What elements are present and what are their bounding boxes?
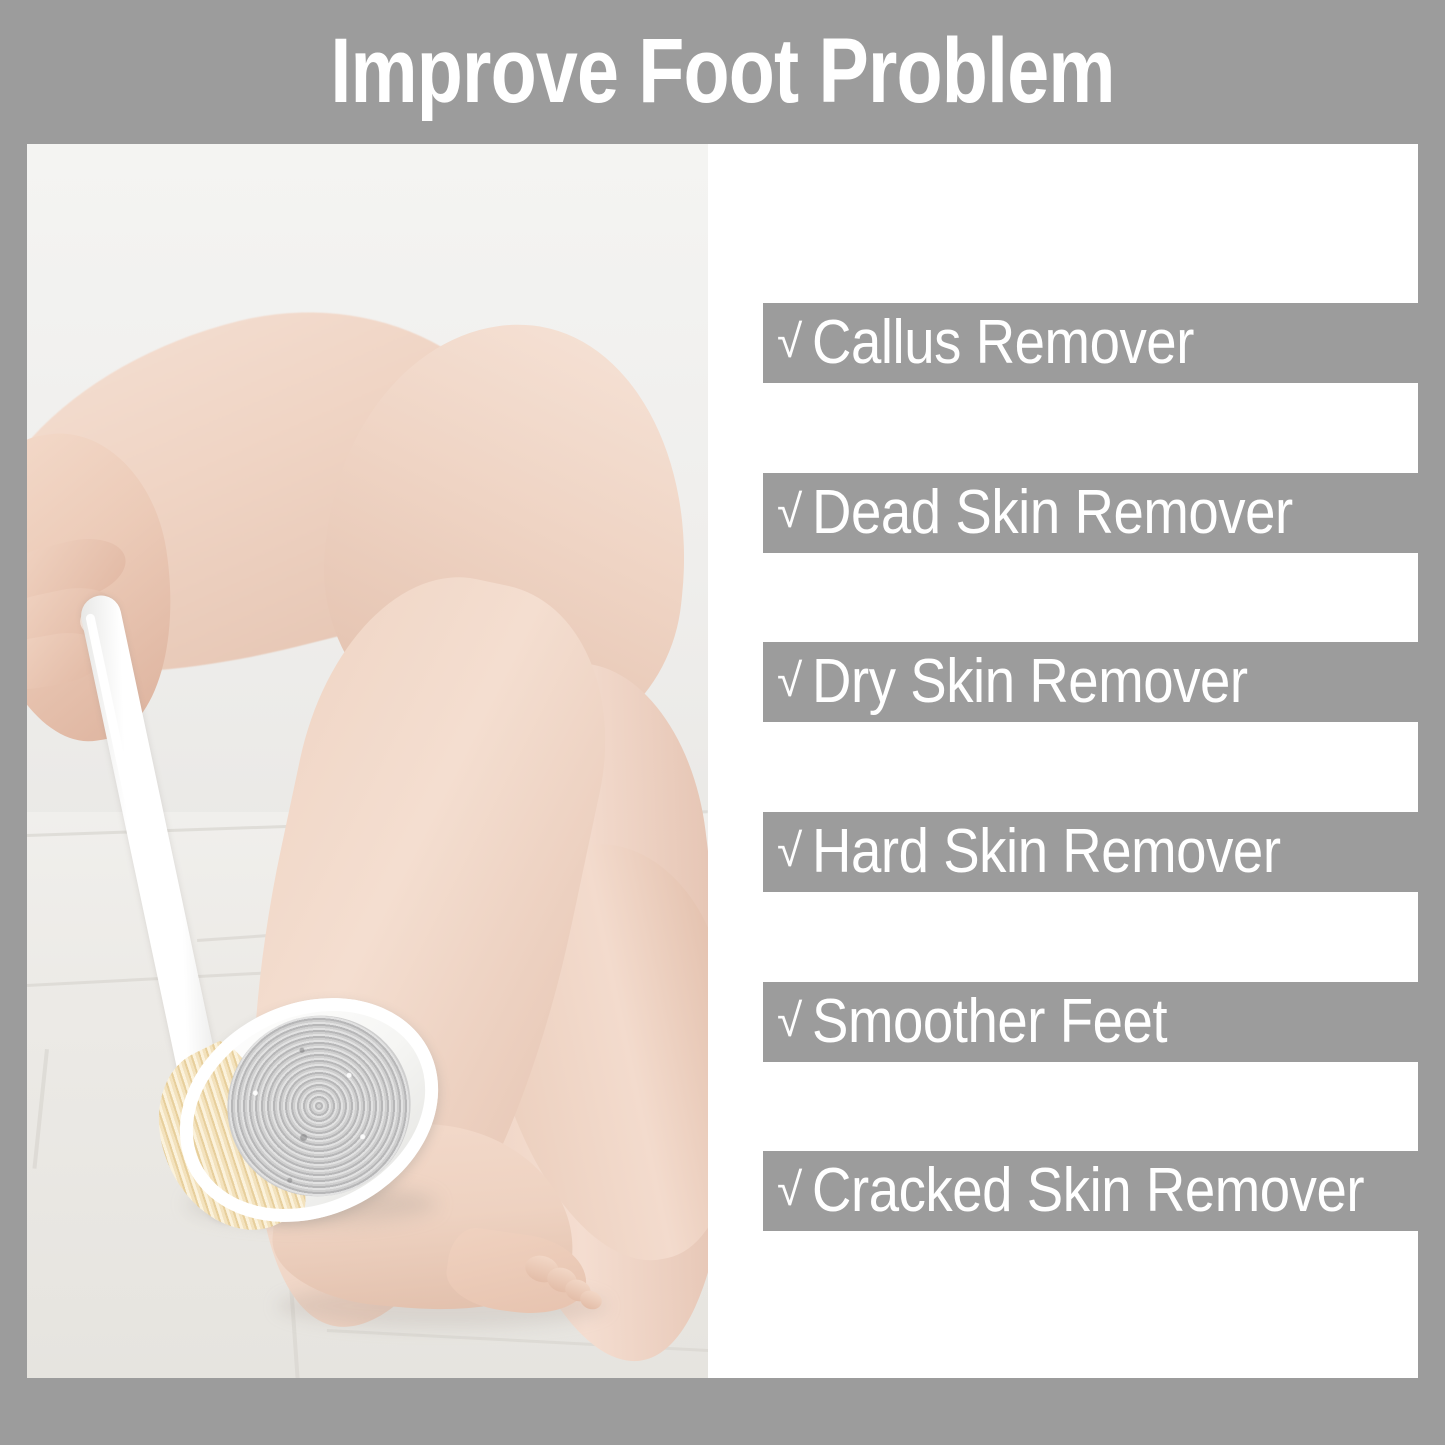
check-icon: √ [777, 488, 802, 534]
feature-item-hard-skin-remover[interactable]: √ Hard Skin Remover [763, 812, 1418, 892]
feature-label: Cracked Skin Remover [812, 1158, 1364, 1224]
page-title: Improve Foot Problem [130, 18, 1315, 124]
infographic-page: Improve Foot Problem [0, 0, 1445, 1445]
check-icon: √ [777, 997, 802, 1043]
check-icon: √ [777, 827, 802, 873]
feature-item-callus-remover[interactable]: √ Callus Remover [763, 303, 1418, 383]
check-icon: √ [777, 318, 802, 364]
feature-item-dry-skin-remover[interactable]: √ Dry Skin Remover [763, 642, 1418, 722]
check-icon: √ [777, 1166, 802, 1212]
content-panel: √ Callus Remover √ Dead Skin Remover √ D… [27, 144, 1418, 1378]
feature-list: √ Callus Remover √ Dead Skin Remover √ D… [736, 144, 1418, 1378]
feature-label: Callus Remover [812, 310, 1194, 376]
check-icon: √ [777, 657, 802, 703]
feature-item-smoother-feet[interactable]: √ Smoother Feet [763, 982, 1418, 1062]
feature-label: Dead Skin Remover [812, 480, 1293, 546]
feature-item-cracked-skin-remover[interactable]: √ Cracked Skin Remover [763, 1151, 1418, 1231]
feature-item-dead-skin-remover[interactable]: √ Dead Skin Remover [763, 473, 1418, 553]
product-photo [27, 144, 708, 1378]
feature-label: Hard Skin Remover [812, 819, 1281, 885]
feature-label: Smoother Feet [812, 989, 1167, 1055]
feature-label: Dry Skin Remover [812, 649, 1248, 715]
